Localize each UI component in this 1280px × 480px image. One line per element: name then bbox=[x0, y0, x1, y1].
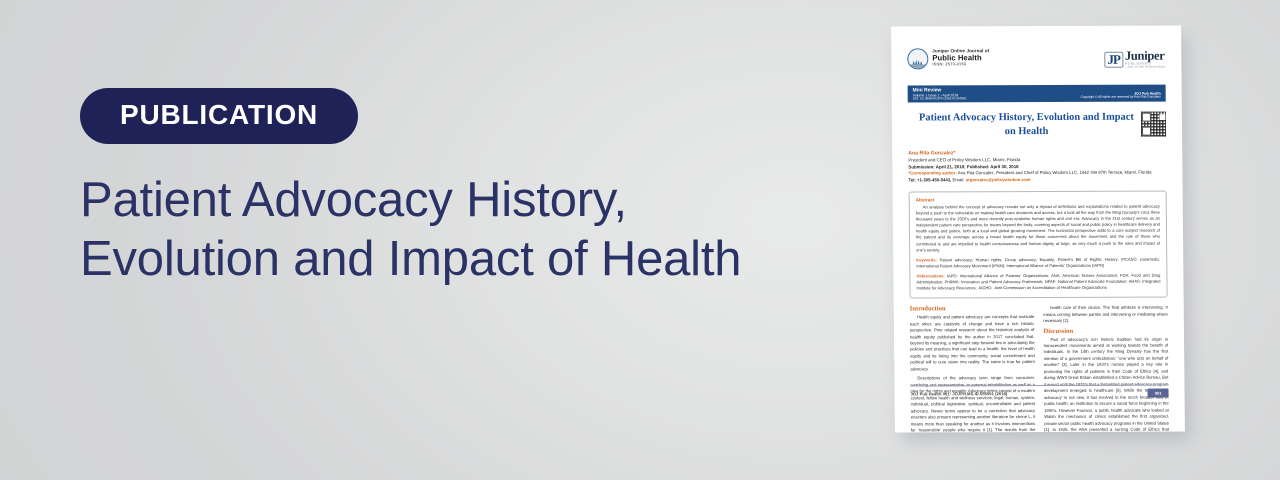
publisher-name: Juniper bbox=[1125, 50, 1166, 63]
journal-logo: Juniper Online Journal of Public Health … bbox=[907, 48, 989, 69]
paper-page: Juniper Online Journal of Public Health … bbox=[891, 26, 1185, 433]
paragraph: Descriptions of the advocacy term range … bbox=[910, 375, 1035, 432]
abstract-heading: Abstract bbox=[916, 196, 1160, 202]
keywords-line: Keywords: Patient advocacy; Human rights… bbox=[916, 256, 1160, 269]
publisher-monogram: JP bbox=[1104, 52, 1123, 68]
article-meta-strip: Mini Review Volume 1 Issue 1 - April 201… bbox=[908, 85, 1166, 103]
abstract-body: An analysis behind the concept of advoca… bbox=[916, 203, 1160, 253]
juniper-publishers-logo-icon: JP Juniper PUBLISHERS ...key to the Rese… bbox=[1104, 48, 1165, 70]
article-doi: DOI: 10.19080/JOJPH.2018.01.555551 bbox=[913, 98, 967, 102]
author-contact: Tel: +1-305-450-5443, Email: argonzalez@… bbox=[908, 177, 1166, 185]
tel-label: Tel: bbox=[908, 177, 915, 182]
abbreviations-value: IAPO: International Alliance of Patients… bbox=[916, 273, 1160, 291]
column-left: Introduction Health equity and patient a… bbox=[910, 305, 1036, 432]
section-heading-discussion: Discussion bbox=[1043, 327, 1168, 334]
body-columns: Introduction Health equity and patient a… bbox=[910, 305, 1170, 433]
footer-citation: JOJ Pub Health 001: JOJPH.MS.ID.555551 (… bbox=[911, 391, 1008, 396]
email-label: Email: bbox=[953, 177, 965, 182]
abstract-box: Abstract An analysis behind the concept … bbox=[909, 190, 1168, 298]
article-title: Patient Advocacy History, Evolution and … bbox=[908, 111, 1141, 139]
paragraph: Health equity and patient advocacy are c… bbox=[910, 314, 1035, 373]
page-number-badge: 001 bbox=[1148, 389, 1169, 398]
page-title: Patient Advocacy History, Evolution and … bbox=[80, 171, 780, 290]
keywords-value: Patient advocacy; Human rights; Group ad… bbox=[916, 256, 1160, 268]
keywords-label: Keywords: bbox=[916, 257, 937, 262]
publication-badge: PUBLICATION bbox=[80, 88, 358, 144]
paragraph: health care of their choice. The final a… bbox=[1043, 305, 1168, 325]
paper-thumbnail[interactable]: Juniper Online Journal of Public Health … bbox=[891, 25, 1191, 438]
paper-footer: JOJ Pub Health 001: JOJPH.MS.ID.555551 (… bbox=[910, 385, 1168, 399]
journal-issn: ISSN: 2573-2153 bbox=[932, 62, 989, 67]
abbreviations-line: Abbreviations: IAPO: International Allia… bbox=[916, 273, 1160, 292]
qr-code-icon bbox=[1141, 112, 1166, 137]
section-heading-introduction: Introduction bbox=[910, 305, 1035, 312]
corresponding-label: *Corresponding author: bbox=[908, 171, 957, 176]
publication-banner: PUBLICATION Patient Advocacy History, Ev… bbox=[0, 0, 1280, 480]
publisher-tagline: ...key to the Researchers bbox=[1125, 66, 1165, 69]
email-value[interactable]: argonzalez@policywisdom.com bbox=[966, 177, 1031, 182]
abbreviations-label: Abbreviations: bbox=[916, 273, 944, 278]
banner-text-block: PUBLICATION Patient Advocacy History, Ev… bbox=[80, 88, 840, 290]
corresponding-text: Ana Rita Gonzalez, President and Chief o… bbox=[958, 170, 1152, 176]
article-title-row: Patient Advocacy History, Evolution and … bbox=[908, 111, 1166, 140]
author-block: Ana Rita Gonzalez* President and CEO of … bbox=[908, 148, 1166, 184]
column-right: health care of their choice. The final a… bbox=[1043, 305, 1169, 433]
journal-masthead: Juniper Online Journal of Public Health … bbox=[907, 48, 1165, 79]
copyright-line: Copyright © All rights are reserved by A… bbox=[1081, 96, 1161, 100]
tel-value: +1-305-450-5443, bbox=[917, 177, 951, 182]
journal-emblem-icon bbox=[907, 48, 928, 69]
